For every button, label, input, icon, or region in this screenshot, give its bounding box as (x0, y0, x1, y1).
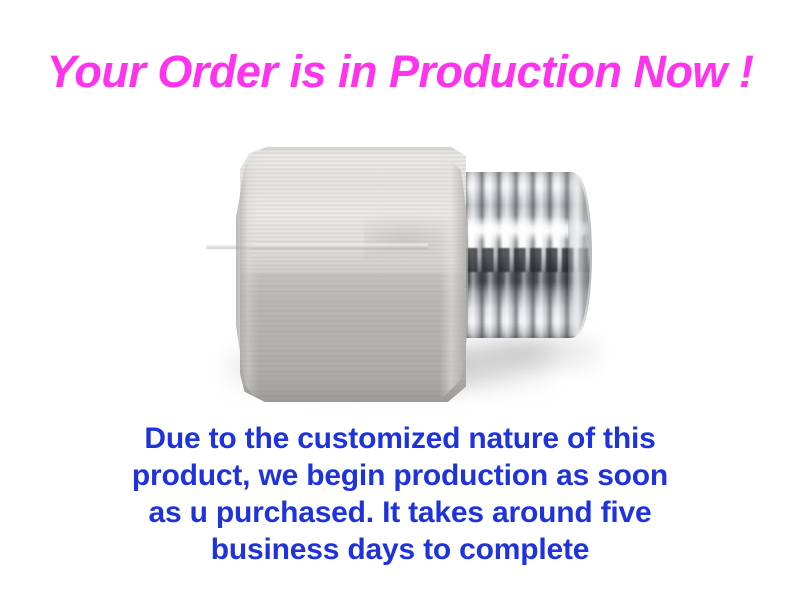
thread-tip-chamfer (568, 174, 592, 336)
body-copy: Due to the customized nature of this pro… (60, 420, 740, 568)
hex-bottom-facet (240, 274, 466, 402)
hex-body (236, 146, 466, 402)
thread-drop-shadow (450, 335, 600, 375)
body-copy-line-3: as u purchased. It takes around five (60, 494, 740, 531)
promo-card: Your Order is in Production Now ! Due to… (0, 0, 800, 600)
headline-text: Your Order is in Production Now ! (0, 47, 800, 97)
product-photo (200, 120, 620, 410)
body-copy-line-4: business days to complete (60, 531, 740, 568)
body-copy-line-2: product, we begin production as soon (60, 457, 740, 494)
body-copy-line-1: Due to the customized nature of this (60, 420, 740, 457)
